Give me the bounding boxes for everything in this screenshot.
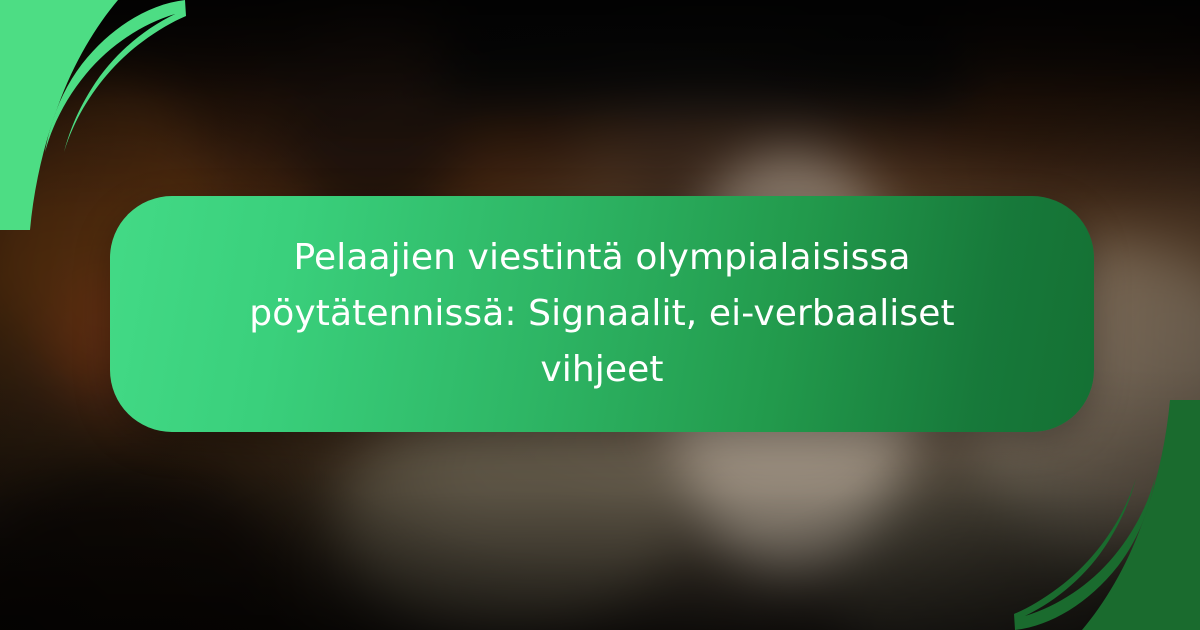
social-share-card: Pelaajien viestintä olympialaisissa pöyt…	[0, 0, 1200, 630]
page-title: Pelaajien viestintä olympialaisissa pöyt…	[158, 230, 1046, 398]
title-card: Pelaajien viestintä olympialaisissa pöyt…	[110, 196, 1094, 432]
